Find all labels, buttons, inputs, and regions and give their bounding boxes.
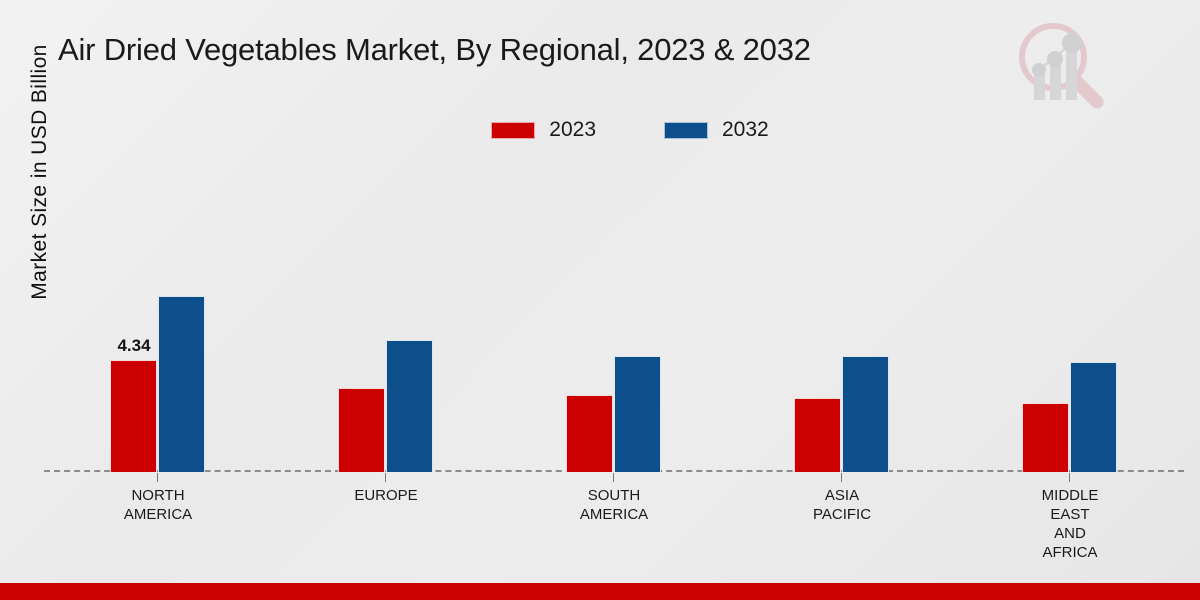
x-label-line: PACIFIC — [728, 505, 956, 524]
watermark-logo-icon — [1004, 12, 1112, 112]
bar-group-europe: EUROPE — [272, 152, 500, 472]
footer-accent-bar — [0, 583, 1200, 600]
bar-group-north-america: 4.34 NORTH AMERICA — [44, 152, 272, 472]
x-label-north-america: NORTH AMERICA — [44, 486, 272, 524]
x-label-line: EAST — [956, 505, 1184, 524]
x-tick-south-america — [613, 473, 614, 482]
bar-2023-middle-east-and-africa[interactable] — [1022, 403, 1069, 472]
legend-item-2023[interactable]: 2023 — [491, 118, 596, 142]
x-tick-asia-pacific — [841, 473, 842, 482]
x-label-line: AMERICA — [500, 505, 728, 524]
bar-2032-north-america[interactable] — [158, 296, 205, 472]
chart-legend: 2023 2032 — [0, 118, 1200, 142]
bar-2032-south-america[interactable] — [614, 356, 661, 472]
legend-item-2032[interactable]: 2032 — [664, 118, 769, 142]
x-label-asia-pacific: ASIA PACIFIC — [728, 486, 956, 524]
x-label-line: SOUTH — [500, 486, 728, 505]
bar-group-south-america: SOUTH AMERICA — [500, 152, 728, 472]
bar-2023-south-america[interactable] — [566, 395, 613, 472]
x-label-line: AMERICA — [44, 505, 272, 524]
x-tick-middle-east-and-africa — [1069, 473, 1070, 482]
bar-2032-middle-east-and-africa[interactable] — [1070, 362, 1117, 472]
x-label-line: EUROPE — [272, 486, 500, 505]
x-label-line: NORTH — [44, 486, 272, 505]
chart-title: Air Dried Vegetables Market, By Regional… — [58, 32, 811, 68]
bars-middle-east-and-africa — [956, 152, 1184, 472]
x-label-line: ASIA — [728, 486, 956, 505]
plot-area: 4.34 NORTH AMERICA EUROPE — [44, 150, 1184, 472]
x-tick-europe — [385, 473, 386, 482]
chart-figure: Air Dried Vegetables Market, By Regional… — [0, 0, 1200, 600]
x-label-middle-east-and-africa: MIDDLE EAST AND AFRICA — [956, 486, 1184, 562]
x-label-europe: EUROPE — [272, 486, 500, 505]
bar-group-asia-pacific: ASIA PACIFIC — [728, 152, 956, 472]
legend-label-2023: 2023 — [549, 118, 596, 142]
x-label-line: AND — [956, 524, 1184, 543]
bar-2032-asia-pacific[interactable] — [842, 356, 889, 472]
bars-asia-pacific — [728, 152, 956, 472]
bars-north-america: 4.34 — [44, 152, 272, 472]
bar-2032-europe[interactable] — [386, 340, 433, 472]
bar-group-middle-east-and-africa: MIDDLE EAST AND AFRICA — [956, 152, 1184, 472]
bars-south-america — [500, 152, 728, 472]
x-tick-north-america — [157, 473, 158, 482]
bar-2023-north-america[interactable] — [110, 360, 157, 472]
legend-swatch-2032 — [664, 122, 708, 139]
x-label-south-america: SOUTH AMERICA — [500, 486, 728, 524]
bar-2023-asia-pacific[interactable] — [794, 398, 841, 472]
x-label-line: AFRICA — [956, 543, 1184, 562]
bars-europe — [272, 152, 500, 472]
bar-value-2023-north-america: 4.34 — [100, 336, 168, 356]
legend-label-2032: 2032 — [722, 118, 769, 142]
bar-2023-europe[interactable] — [338, 388, 385, 472]
x-label-line: MIDDLE — [956, 486, 1184, 505]
legend-swatch-2023 — [491, 122, 535, 139]
